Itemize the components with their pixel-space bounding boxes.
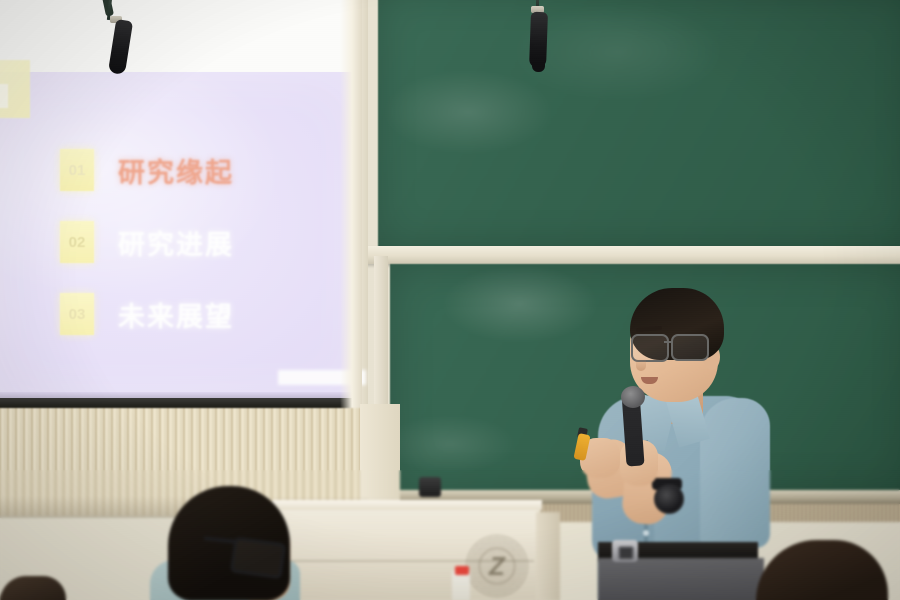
- speaker-trousers: [598, 558, 764, 600]
- slide-item-label: 研究进展: [118, 223, 234, 262]
- slide-agenda-list: 01 研究缘起 02 研究进展 03 未来展望: [60, 148, 340, 364]
- slide-agenda-item: 01 研究缘起: [60, 148, 340, 192]
- slide-corner-accent-inner: [0, 84, 8, 108]
- slide-item-label: 研究缘起: [118, 151, 234, 190]
- wristwatch-icon: [654, 484, 684, 514]
- audience-eyeglasses-icon: [230, 537, 287, 580]
- slide-agenda-item: 03 未来展望: [60, 292, 340, 336]
- slide-agenda-item: 02 研究进展: [60, 220, 340, 264]
- shirt-button: [643, 530, 649, 536]
- wood-wall-pillar: [360, 404, 400, 504]
- slide-item-number-badge: 02: [60, 221, 94, 263]
- podium-top-edge: [272, 500, 542, 510]
- chalkboard-upper-panel: [378, 0, 900, 248]
- university-seal-glyph: Z: [466, 535, 528, 597]
- belt-buckle-inner: [618, 546, 634, 560]
- eyeglasses-bridge: [664, 341, 673, 343]
- eyeglasses-right-lens-icon: [671, 334, 709, 361]
- screen-right-edge: [340, 0, 362, 410]
- slide-item-label: 未来展望: [118, 295, 234, 334]
- chalkboard-divider: [366, 246, 900, 264]
- ceiling-microphone-icon: [529, 12, 548, 69]
- lecture-hall-photo: 01 研究缘起 02 研究进展 03 未来展望 Z: [0, 0, 900, 600]
- microphone-head-icon: [621, 386, 645, 408]
- podium-right-side: [536, 512, 560, 600]
- slide-item-number-badge: 03: [60, 293, 94, 335]
- board-eraser: [419, 477, 441, 497]
- water-bottle-cap: [455, 566, 469, 575]
- speaker-right-shoulder: [700, 398, 770, 548]
- slide-item-number-badge: 01: [60, 149, 94, 191]
- speaker-nose: [636, 358, 646, 371]
